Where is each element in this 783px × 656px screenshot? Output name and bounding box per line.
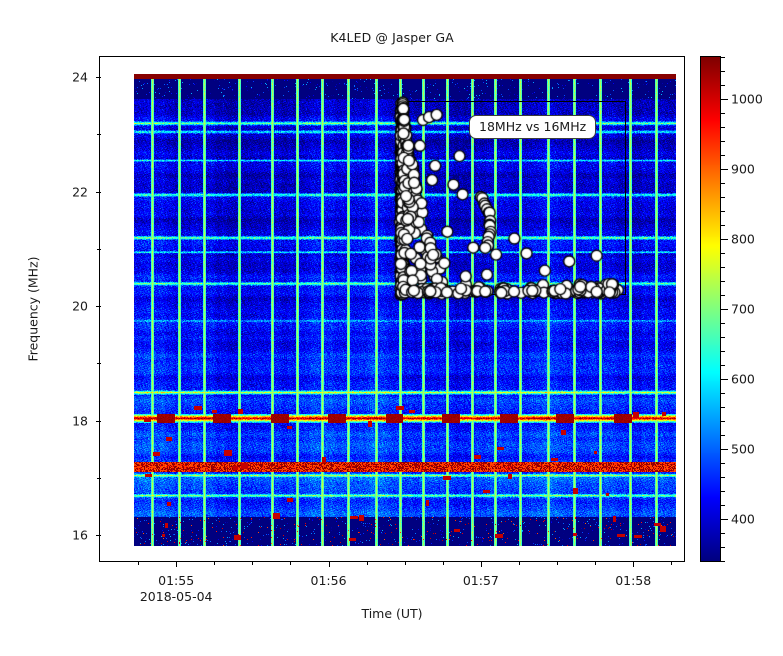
colorbar-tick-mark	[720, 239, 728, 240]
annotation-badge: 18MHz vs 16MHz	[469, 115, 596, 139]
y-tick-label: 20	[48, 299, 88, 314]
colorbar-tick-label: 400	[731, 512, 755, 527]
colorbar-tick-mark	[720, 519, 728, 520]
y-axis-label: Frequency (MHz)	[26, 256, 41, 361]
figure-canvas: K4LED @ Jasper GA 18MHz vs 16MHz 1618202…	[0, 0, 783, 656]
colorbar[interactable]	[700, 56, 721, 562]
colorbar-tick-label: 1000	[731, 92, 763, 107]
colorbar-tick-label: 500	[731, 442, 755, 457]
y-tick-label: 24	[48, 70, 88, 85]
x-tick-label: 01:55	[141, 573, 211, 588]
x-axis-date-label: 2018-05-04	[131, 589, 221, 604]
page-title: K4LED @ Jasper GA	[99, 30, 685, 45]
x-axis-label: Time (UT)	[99, 606, 685, 621]
colorbar-tick-mark	[720, 169, 728, 170]
x-tick-label: 01:57	[446, 573, 516, 588]
colorbar-gradient	[701, 57, 720, 561]
y-tick-label: 16	[48, 528, 88, 543]
colorbar-tick-label: 600	[731, 372, 755, 387]
y-tick-label: 18	[48, 413, 88, 428]
x-tick-label: 01:56	[294, 573, 364, 588]
x-tick-label: 01:58	[598, 573, 668, 588]
colorbar-tick-label: 700	[731, 302, 755, 317]
colorbar-tick-mark	[720, 99, 728, 100]
colorbar-tick-mark	[720, 379, 728, 380]
spectrogram-axes[interactable]	[99, 56, 685, 562]
scatter-overlay	[100, 57, 684, 561]
colorbar-tick-label: 800	[731, 232, 755, 247]
y-tick-label: 22	[48, 184, 88, 199]
colorbar-tick-mark	[720, 449, 728, 450]
colorbar-tick-mark	[720, 309, 728, 310]
colorbar-tick-label: 900	[731, 162, 755, 177]
